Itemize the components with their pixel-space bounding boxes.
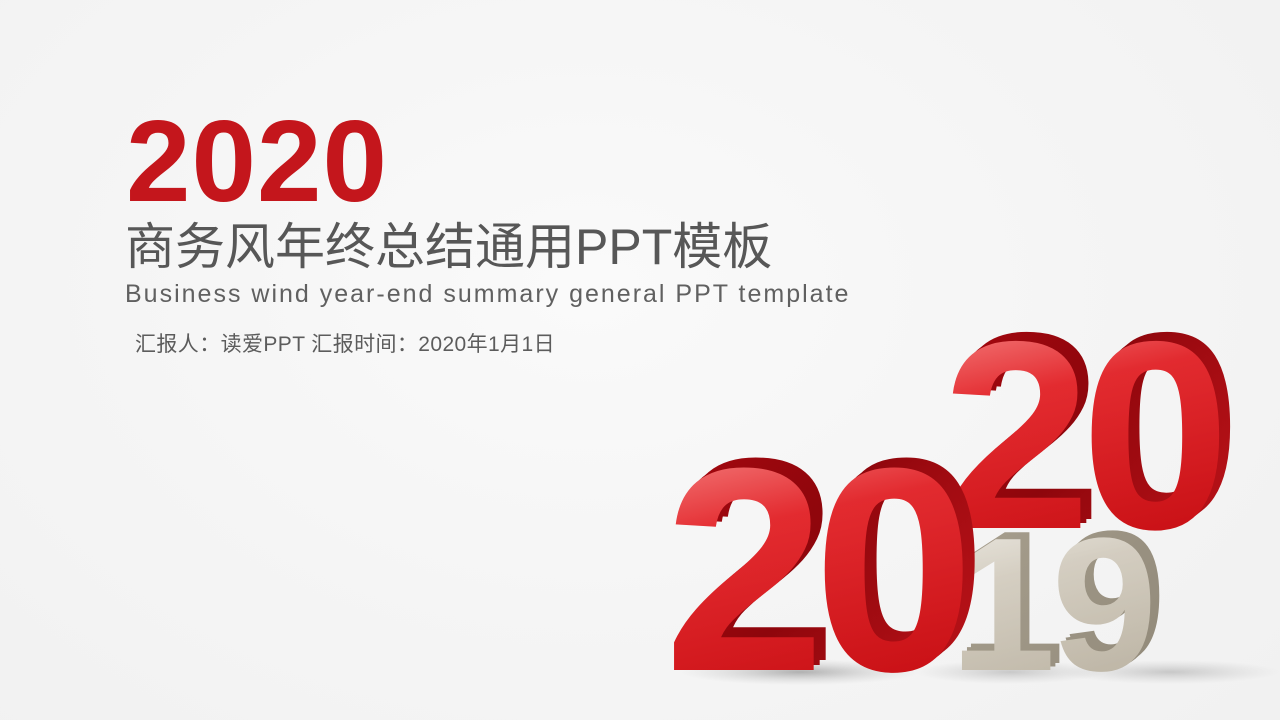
page-subtitle: Business wind year-end summary general P… (125, 279, 944, 310)
page-title: 商务风年终总结通用PPT模板 (125, 219, 944, 275)
artwork-numeral-20-raised: 20 20 20 20 (942, 276, 1231, 585)
artwork-numeral-20-front: 20 20 20 20 (664, 398, 975, 720)
presenter-byline: 汇报人：读爱PPT 汇报时间：2020年1月1日 (135, 328, 944, 358)
slide-year-heading: 2020 (126, 108, 944, 215)
title-text-block: 2020 商务风年终总结通用PPT模板 Business wind year-e… (124, 108, 944, 358)
svg-text:20: 20 (664, 408, 963, 720)
presentation-slide: 19 19 19 19 20 20 20 20 (0, 0, 1280, 720)
svg-text:20: 20 (942, 285, 1220, 585)
